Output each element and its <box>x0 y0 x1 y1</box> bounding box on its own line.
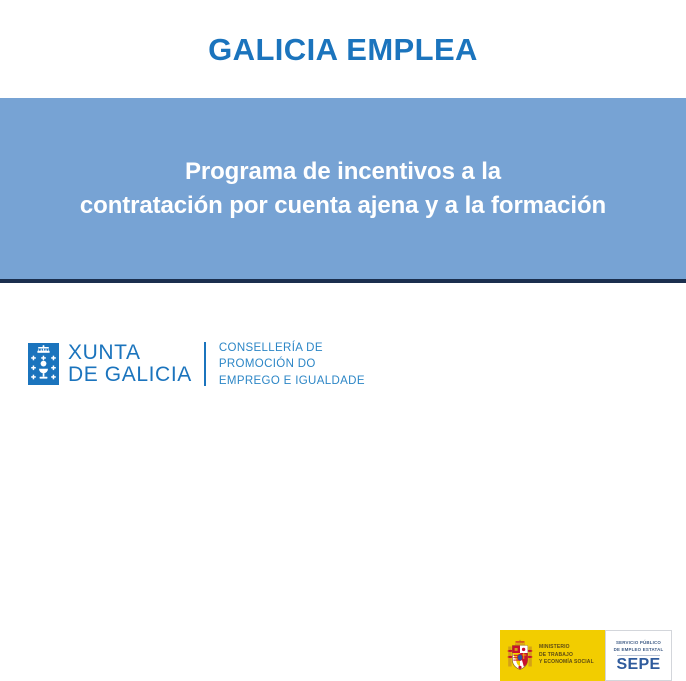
program-banner-line-2: contratación por cuenta ajena y a la for… <box>18 189 668 222</box>
ministerio-line-2: DE TRABAJO <box>539 652 594 660</box>
ministerio-line-3: Y ECONOMÍA SOCIAL <box>539 659 594 667</box>
program-banner-line-1: Programa de incentivos a la <box>18 155 668 188</box>
gobierno-sepe-logo: MINISTERIO DE TRABAJO Y ECONOMÍA SOCIAL … <box>500 630 672 681</box>
ministerio-text: MINISTERIO DE TRABAJO Y ECONOMÍA SOCIAL <box>539 644 594 667</box>
xunta-coat-of-arms-icon <box>28 343 59 385</box>
page-header: GALICIA EMPLEA <box>0 0 686 98</box>
sepe-full-name-line-1: SERVICIO PÚBLICO <box>614 640 664 647</box>
conselleria-name: CONSELLERÍA DE PROMOCIÓN DO EMPREGO E IG… <box>219 340 365 389</box>
sepe-acronym: SEPE <box>617 655 661 673</box>
page-title: GALICIA EMPLEA <box>208 34 478 65</box>
conselleria-line-1: CONSELLERÍA DE <box>219 340 365 356</box>
program-banner-text: Programa de incentivos a la contratación… <box>0 155 686 221</box>
ministerio-line-1: MINISTERIO <box>539 644 594 652</box>
sepe-full-name: SERVICIO PÚBLICO DE EMPLEO ESTATAL <box>614 640 664 653</box>
conselleria-line-2: PROMOCIÓN DO <box>219 356 365 372</box>
xunta-de-galicia-logo: XUNTA DE GALICIA CONSELLERÍA DE PROMOCIÓ… <box>28 340 365 389</box>
sepe-logo: SERVICIO PÚBLICO DE EMPLEO ESTATAL SEPE <box>605 630 672 681</box>
xunta-wordmark: XUNTA DE GALICIA <box>68 342 192 387</box>
xunta-wordmark-line-2: DE GALICIA <box>68 364 192 387</box>
ministerio-de-trabajo-logo: MINISTERIO DE TRABAJO Y ECONOMÍA SOCIAL <box>500 630 605 681</box>
escudo-de-espana-icon <box>506 638 534 674</box>
program-banner: Programa de incentivos a la contratación… <box>0 98 686 283</box>
xunta-wordmark-line-1: XUNTA <box>68 342 192 365</box>
footer-logo-strip: XUNTA DE GALICIA CONSELLERÍA DE PROMOCIÓ… <box>0 283 686 406</box>
logo-divider <box>204 342 206 386</box>
conselleria-line-3: EMPREGO E IGUALDADE <box>219 373 365 389</box>
sepe-full-name-line-2: DE EMPLEO ESTATAL <box>614 647 664 654</box>
